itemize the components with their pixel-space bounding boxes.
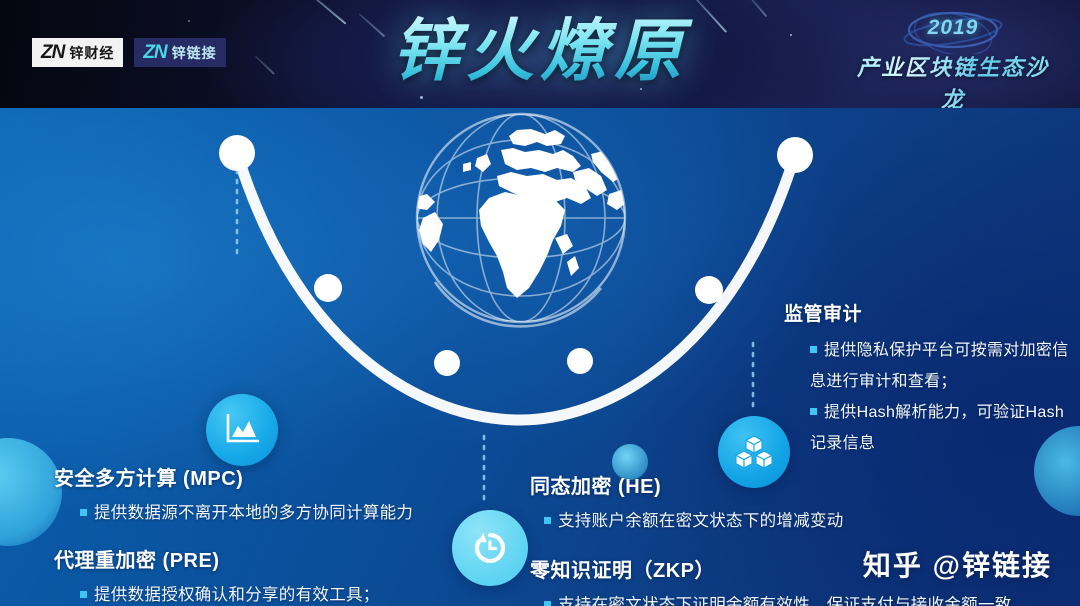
feature-title: 监管审计 [784, 302, 1074, 328]
logo-mark-zn: ZN [143, 43, 166, 62]
icon-bubble-mpc[interactable] [206, 394, 278, 466]
bullet-text: 支持在密文状态下证明余额有效性，保证支付与接收金额一致 [558, 596, 1012, 606]
feature-bullet-list: 提供数据授权确认和分享的有效工具； 为第三方平台提供基于隐私保护的数据传输和交换… [54, 581, 524, 606]
meteor-streak-icon [305, 0, 346, 24]
bullet-square-icon [544, 517, 551, 524]
feature-block-mpc: 安全多方计算 (MPC) 提供数据源不离开本地的多方协同计算能力 [54, 466, 494, 528]
logo-mark-zn: ZN [41, 43, 64, 62]
zhihu-watermark: 知乎 @锌链接 [863, 544, 1052, 584]
list-item: 提供数据源不离开本地的多方协同计算能力 [54, 499, 494, 528]
list-item: 支持在密文状态下证明余额有效性，保证支付与接收金额一致 [530, 591, 1040, 606]
star-icon [420, 96, 423, 99]
event-year: 2019 [848, 16, 1058, 40]
feature-title: 安全多方计算 (MPC) [54, 466, 494, 492]
bullet-square-icon [80, 591, 87, 598]
feature-title: 代理重加密 (PRE) [54, 548, 524, 574]
list-item: 提供Hash解析能力，可验证Hash记录信息 [784, 397, 1074, 459]
bullet-square-icon [810, 408, 817, 415]
list-item: 提供隐私保护平台可按需对加密信息进行审计和查看； [784, 335, 1074, 397]
event-lockup: 2019 产业区块链生态沙龙 探索产业区块链价值 [848, 12, 1058, 108]
header-banner: ZN 锌财经 ZN 锌链接 锌火燎原 2019 产业区块链生态沙龙 探索产业区块… [0, 0, 1080, 108]
meteor-streak-icon [255, 55, 275, 74]
list-item: 提供数据授权确认和分享的有效工具； [54, 581, 524, 606]
feature-bullet-list: 支持账户余额在密文状态下的增减变动 [530, 507, 1030, 536]
meteor-streak-icon [359, 13, 386, 37]
logo-label: 锌财经 [69, 46, 114, 60]
slide-canvas: ZN 锌财经 ZN 锌链接 锌火燎原 2019 产业区块链生态沙龙 探索产业区块… [0, 0, 1080, 606]
logo-label: 锌链接 [172, 46, 217, 60]
feature-bullet-list: 支持在密文状态下证明余额有效性，保证支付与接收金额一致 [530, 591, 1040, 606]
bullet-text: 提供Hash解析能力，可验证Hash记录信息 [810, 404, 1064, 452]
feature-block-audit: 监管审计 提供隐私保护平台可按需对加密信息进行审计和查看； 提供Hash解析能力… [784, 302, 1074, 459]
feature-bullet-list: 提供数据源不离开本地的多方协同计算能力 [54, 499, 494, 528]
slide-body: 安全多方计算 (MPC) 提供数据源不离开本地的多方协同计算能力 代理重加密 (… [0, 108, 1080, 606]
brand-logo-group: ZN 锌财经 ZN 锌链接 [32, 38, 226, 67]
star-icon [790, 34, 792, 36]
feature-title: 同态加密 (HE) [530, 474, 1030, 500]
event-globe-arcs: 2019 [848, 12, 1058, 48]
event-title: 产业区块链生态沙龙 [848, 50, 1058, 108]
bullet-text: 支持账户余额在密文状态下的增减变动 [558, 512, 844, 530]
bullet-text: 提供数据源不离开本地的多方协同计算能力 [94, 504, 413, 522]
list-item: 支持账户余额在密文状态下的增减变动 [530, 507, 1030, 536]
feature-bullet-list: 提供隐私保护平台可按需对加密信息进行审计和查看； 提供Hash解析能力，可验证H… [784, 335, 1074, 459]
logo-xinlianjie[interactable]: ZN 锌链接 [134, 38, 225, 67]
bullet-square-icon [544, 601, 551, 606]
bullet-square-icon [810, 346, 817, 353]
bullet-text: 提供数据授权确认和分享的有效工具； [94, 586, 380, 604]
feature-block-he: 同态加密 (HE) 支持账户余额在密文状态下的增减变动 [530, 474, 1030, 536]
logo-xincaijing[interactable]: ZN 锌财经 [32, 38, 123, 67]
meteor-streak-icon [747, 0, 768, 17]
blocks-cubes-icon [735, 434, 773, 470]
feature-block-pre: 代理重加密 (PRE) 提供数据授权确认和分享的有效工具； 为第三方平台提供基于… [54, 548, 524, 606]
area-chart-icon [224, 413, 260, 447]
bullet-text: 提供隐私保护平台可按需对加密信息进行审计和查看； [810, 342, 1069, 390]
star-icon [188, 20, 190, 22]
bullet-square-icon [80, 509, 87, 516]
star-icon [640, 88, 642, 90]
meteor-streak-icon [695, 0, 727, 33]
